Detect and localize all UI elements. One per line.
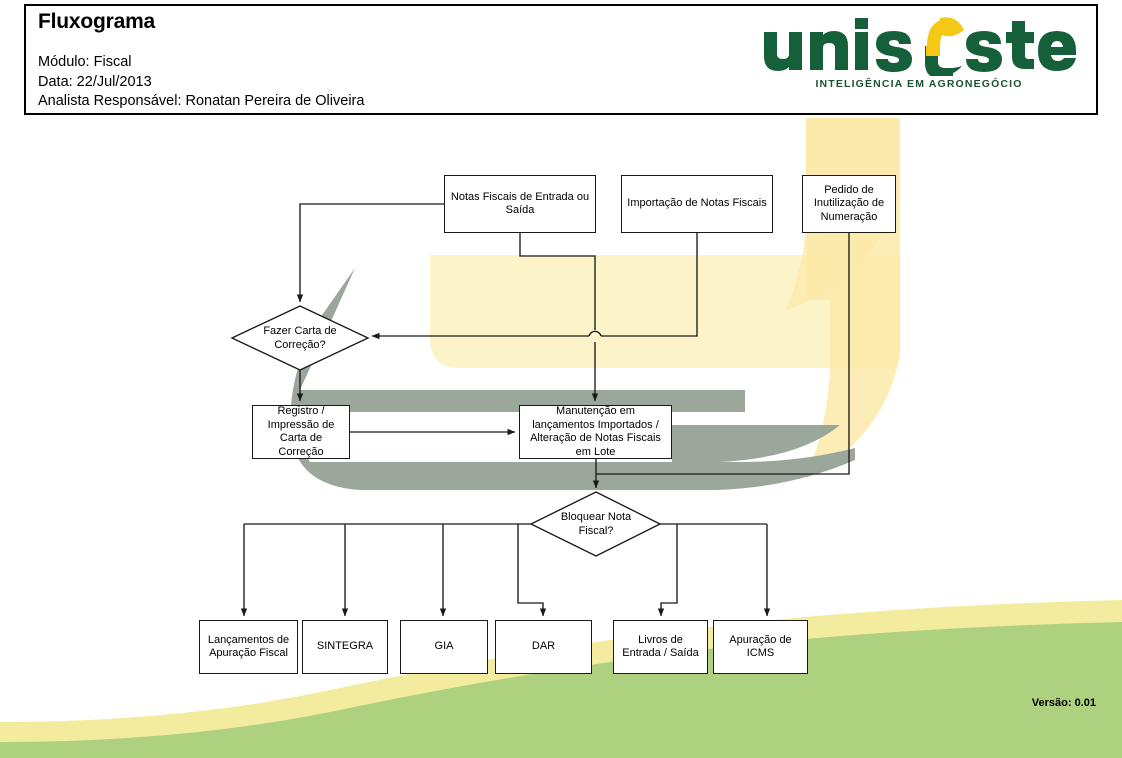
edge-notas-to-fazer-carta <box>300 204 444 302</box>
decision-fazer-carta-shape <box>232 306 368 370</box>
node-manutencao-lancamentos[interactable]: Manutenção em lançamentos Importados / A… <box>519 405 672 459</box>
node-label: Pedido de Inutilização de Numeração <box>807 184 891 225</box>
logo-tagline: INTELIGÊNCIA EM AGRONEGÓCIO <box>760 78 1078 90</box>
meta-modulo: Módulo: Fiscal <box>38 53 364 73</box>
flowchart-page: Fluxograma Módulo: Fiscal Data: 22/Jul/2… <box>0 0 1122 758</box>
node-label: Manutenção em lançamentos Importados / A… <box>524 405 667 459</box>
edge-bus-to-livros <box>661 524 677 616</box>
decision-bloquear-nota-shape <box>531 492 660 556</box>
node-gia[interactable]: GIA <box>400 620 488 674</box>
unisystem-logo: INTELIGÊNCIA EM AGRONEGÓCIO <box>760 16 1078 104</box>
page-title: Fluxograma <box>38 10 155 34</box>
node-label: Registro / Impressão de Carta de Correçã… <box>257 405 345 459</box>
header-panel: Fluxograma Módulo: Fiscal Data: 22/Jul/2… <box>24 4 1098 115</box>
node-importacao-notas-fiscais[interactable]: Importação de Notas Fiscais <box>621 175 773 233</box>
header-metadata: Módulo: Fiscal Data: 22/Jul/2013 Analist… <box>38 53 364 112</box>
edge-line-hop-arc <box>589 331 601 336</box>
node-label: GIA <box>435 640 454 654</box>
node-livros-entrada-saida[interactable]: Livros de Entrada / Saída <box>613 620 708 674</box>
version-label: Versão: 0.01 <box>1032 697 1096 709</box>
node-label: Apuração de ICMS <box>718 634 803 661</box>
node-label: Lançamentos de Apuração Fiscal <box>204 634 293 661</box>
meta-analista: Analista Responsável: Ronatan Pereira de… <box>38 92 364 112</box>
node-notas-fiscais[interactable]: Notas Fiscais de Entrada ou Saída <box>444 175 596 233</box>
node-label: Notas Fiscais de Entrada ou Saída <box>449 191 591 218</box>
node-lancamentos-apuracao-fiscal[interactable]: Lançamentos de Apuração Fiscal <box>199 620 298 674</box>
edge-notas-to-manutencao <box>520 233 595 330</box>
node-label: Livros de Entrada / Saída <box>618 634 703 661</box>
edge-bus-to-dar <box>518 524 543 616</box>
node-label: Importação de Notas Fiscais <box>627 197 766 211</box>
node-sintegra[interactable]: SINTEGRA <box>302 620 388 674</box>
node-registro-carta-correcao[interactable]: Registro / Impressão de Carta de Correçã… <box>252 405 350 459</box>
node-apuracao-icms[interactable]: Apuração de ICMS <box>713 620 808 674</box>
edge-importacao-to-fazer-carta <box>601 233 697 336</box>
node-pedido-inutilizacao[interactable]: Pedido de Inutilização de Numeração <box>802 175 896 233</box>
node-label: DAR <box>532 640 555 654</box>
logo-wordmark-icon <box>760 16 1078 76</box>
node-label: SINTEGRA <box>317 640 373 654</box>
meta-data: Data: 22/Jul/2013 <box>38 73 364 93</box>
node-dar[interactable]: DAR <box>495 620 592 674</box>
